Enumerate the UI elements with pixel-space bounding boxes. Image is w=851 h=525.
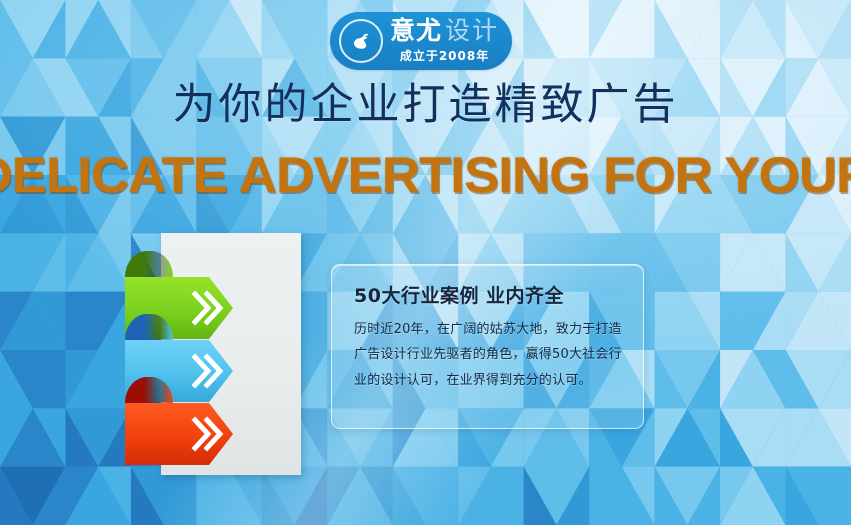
brand-name-bold: 意尤 — [390, 18, 442, 43]
info-panel: 50大行业案例 业内齐全 历时近20年，在广阔的姑苏大地，致力于打造广告设计行业… — [331, 264, 644, 429]
panel-body-text: 历时近20年，在广阔的姑苏大地，致力于打造广告设计行业先驱者的角色，赢得50大社… — [354, 317, 623, 393]
brand-logo[interactable]: 意尤 设计 成立于2008年 — [330, 12, 512, 70]
ribbon-arrow-red[interactable] — [125, 403, 233, 465]
headline-english: DELICATE ADVERTISING FOR YOUR BUSINESS — [0, 150, 851, 200]
advertising-banner: 意尤 设计 成立于2008年 为你的企业打造精致广告 DELICATE ADVE… — [0, 0, 851, 525]
brand-name-light: 设计 — [445, 18, 499, 43]
bird-swan-icon — [339, 19, 383, 63]
brand-tagline: 成立于2008年 — [390, 47, 499, 64]
brand-wordmark: 意尤 设计 成立于2008年 — [390, 18, 499, 64]
ribbon-band-red — [125, 403, 233, 465]
panel-title: 50大行业案例 业内齐全 — [354, 287, 623, 306]
headline-chinese: 为你的企业打造精致广告 — [0, 84, 851, 127]
